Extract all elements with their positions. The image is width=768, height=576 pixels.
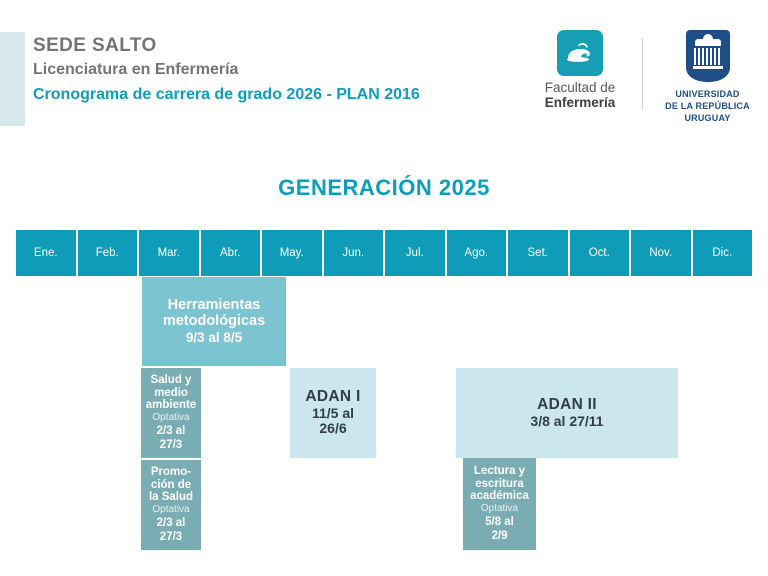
month-cell-oct: Oct.	[570, 230, 632, 276]
university-logo-line3: URUGUAY	[655, 112, 760, 124]
course-title-line2: escritura	[475, 478, 524, 490]
header-text-group: SEDE SALTO Licenciatura en Enfermería Cr…	[33, 33, 420, 108]
course-dates-line1: 2/3 al	[157, 517, 186, 530]
logo-group: Facultad de Enfermería UNIVERSIDAD DE LA…	[505, 30, 760, 125]
course-block-herramientas: Herramientas metodológicas 9/3 al 8/5	[142, 277, 286, 366]
course-block-salud-medio-ambiente: Salud y medio ambiente Optativa 2/3 al 2…	[141, 368, 201, 458]
faculty-logo-line1: Facultad de	[520, 80, 640, 95]
course-block-adan-1: ADAN I 11/5 al 26/6	[290, 368, 376, 458]
university-logo-line2: DE LA REPÚBLICA	[655, 100, 760, 112]
month-header-bar: Ene. Feb. Mar. Abr. May. Jun. Jul. Ago. …	[16, 230, 752, 276]
month-cell-jul: Jul.	[385, 230, 447, 276]
month-cell-ene: Ene.	[16, 230, 78, 276]
course-title: ADAN I	[305, 389, 360, 406]
month-cell-may: May.	[262, 230, 324, 276]
course-type-label: Optativa	[481, 503, 518, 515]
header-accent-bar	[0, 32, 25, 126]
course-dates-line2: 27/3	[160, 531, 182, 544]
month-cell-feb: Feb.	[78, 230, 140, 276]
page-header: SEDE SALTO Licenciatura en Enfermería Cr…	[0, 0, 768, 150]
course-block-adan-2: ADAN II 3/8 al 27/11	[456, 368, 678, 458]
shield-building-icon	[686, 30, 730, 82]
course-title-line1: Lectura y	[474, 465, 525, 477]
month-cell-abr: Abr.	[201, 230, 263, 276]
site-name: SEDE SALTO	[33, 33, 420, 58]
month-cell-nov: Nov.	[631, 230, 693, 276]
course-dates-line1: 11/5 al	[312, 406, 354, 422]
month-cell-dic: Dic.	[693, 230, 753, 276]
course-title-line1: Salud y	[151, 374, 192, 386]
course-type-label: Optativa	[152, 504, 189, 516]
university-logo-line1: UNIVERSIDAD	[655, 88, 760, 100]
faculty-logo-line2: Enfermería	[520, 95, 640, 110]
generation-title: GENERACIÓN 2025	[0, 175, 768, 201]
course-type-label: Optativa	[152, 412, 189, 424]
university-logo-text: UNIVERSIDAD DE LA REPÚBLICA URUGUAY	[655, 88, 760, 124]
course-title-line3: académica	[470, 490, 529, 502]
month-cell-mar: Mar.	[139, 230, 201, 276]
course-dates: 3/8 al 27/11	[530, 414, 603, 430]
course-dates-line2: 2/9	[492, 530, 508, 543]
course-title-line3: ambiente	[146, 399, 197, 411]
course-block-lectura-escritura: Lectura y escritura académica Optativa 5…	[463, 458, 536, 550]
course-title-line2: medio	[154, 387, 188, 399]
month-cell-ago: Ago.	[447, 230, 509, 276]
course-title-line3: la Salud	[149, 491, 193, 503]
course-dates-line2: 27/3	[160, 439, 182, 452]
course-title-line2: ción de	[151, 479, 191, 491]
course-title: ADAN II	[537, 397, 597, 414]
faculty-logo-text: Facultad de Enfermería	[520, 80, 640, 110]
course-dates-line1: 2/3 al	[157, 425, 186, 438]
course-title-line1: Herramientas	[168, 298, 261, 314]
month-cell-set: Set.	[508, 230, 570, 276]
faculty-logo: Facultad de Enfermería	[520, 30, 640, 110]
university-logo: UNIVERSIDAD DE LA REPÚBLICA URUGUAY	[655, 30, 760, 124]
course-dates-line1: 5/8 al	[485, 516, 514, 529]
course-dates: 9/3 al 8/5	[186, 330, 242, 345]
page-subtitle: Cronograma de carrera de grado 2026 - PL…	[33, 82, 420, 108]
logo-divider	[642, 38, 643, 110]
oil-lamp-icon	[557, 30, 603, 76]
course-block-promocion-salud: Promo- ción de la Salud Optativa 2/3 al …	[141, 460, 201, 550]
course-title-line2: metodológicas	[163, 314, 265, 330]
course-title-line1: Promo-	[151, 466, 191, 478]
month-cell-jun: Jun.	[324, 230, 386, 276]
degree-name: Licenciatura en Enfermería	[33, 58, 420, 82]
course-dates-line2: 26/6	[319, 421, 346, 437]
